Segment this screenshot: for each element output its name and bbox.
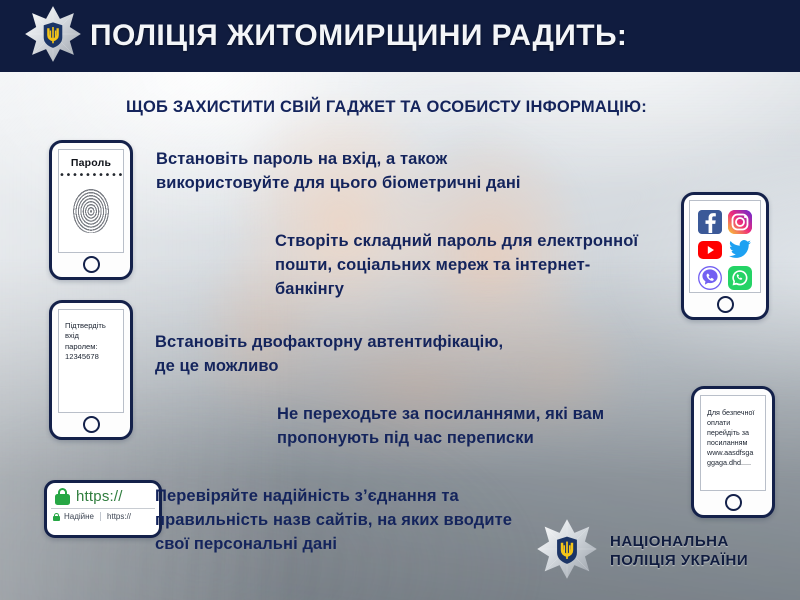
tip-line: свої персональні дані [155,533,512,557]
tip-line: Не переходьте за посиланнями, які вам [277,403,604,427]
subtitle: ЩОБ ЗАХИСТИТИ СВІЙ ГАДЖЕТ ТА ОСОБИСТУ ІН… [126,98,647,117]
home-button-icon [717,296,734,313]
home-button-icon [83,256,100,273]
password-label: Пароль [59,157,123,169]
tip-strong-password: Створіть складний пароль для електронної… [275,230,638,302]
fingerprint-icon [73,188,109,233]
phishing-line: оплати [707,418,760,428]
tip-line: Встановіть пароль на вхід, а також [156,148,521,172]
phone-screen: Пароль •••••••••• [58,149,124,253]
home-button-icon [725,494,742,511]
viber-icon[interactable] [698,266,722,290]
url-text: https:// [107,512,131,521]
tip-line: Створіть складний пароль для електронної [275,230,638,254]
tip-line: пропонують під час переписки [277,427,604,451]
sms-line: паролем: [65,342,118,352]
phone-screen: Підтвердіть вхід паролем: 12345678 [58,309,124,413]
police-star-emblem [24,5,82,68]
tip-line: Перевіряйте надійність з’єднання та [155,485,512,509]
sms-code: 12345678 [65,352,118,362]
phishing-message: Для безпечної оплати перейдіть за посила… [701,396,765,468]
phishing-url-line: ggaga.dhd..... [707,458,760,468]
sms-message: Підтвердіть вхід паролем: 12345678 [59,310,123,362]
footer-organisation-name: НАЦІОНАЛЬНА ПОЛІЦІЯ УКРАЇНИ [610,533,748,571]
tip-line: банкінгу [275,278,638,302]
sms-line: Підтвердіть [65,321,118,331]
phone-sms-mockup: Підтвердіть вхід паролем: 12345678 [49,300,133,440]
tip-line: правильність назв сайтів, на яких вводит… [155,509,512,533]
phishing-line: Для безпечної [707,408,760,418]
home-button-icon [83,416,100,433]
police-star-emblem [536,518,598,585]
phishing-url-line: www.aasdfsga [707,448,760,458]
header-bar: ПОЛІЦІЯ ЖИТОМИРЩИНИ РАДИТЬ: [0,0,800,72]
tip-password-biometrics: Встановіть пароль на вхід, а також викор… [156,148,521,196]
phone-social-mockup [681,192,769,320]
phone-screen [689,200,761,293]
lock-small-icon [53,513,60,521]
https-addressbar-row: Надійне https:// [47,509,159,521]
footer-line: НАЦІОНАЛЬНА [610,533,748,552]
footer-logo: НАЦІОНАЛЬНА ПОЛІЦІЯ УКРАЇНИ [536,518,748,585]
youtube-icon[interactable] [698,238,722,262]
phone-screen: Для безпечної оплати перейдіть за посила… [700,395,766,491]
tip-line: де це можливо [155,355,503,379]
password-dots: •••••••••• [59,170,123,181]
tip-avoid-links: Не переходьте за посиланнями, які вам пр… [277,403,604,451]
phone-phishing-mockup: Для безпечної оплати перейдіть за посила… [691,386,775,518]
tip-verify-connection: Перевіряйте надійність з’єднання та прав… [155,485,512,557]
social-app-grid [690,201,760,293]
phishing-line: перейдіть за [707,428,760,438]
tip-two-factor-auth: Встановіть двофакторну автентифікацію, д… [155,331,503,379]
secure-label: Надійне [64,512,94,521]
tip-line: Встановіть двофакторну автентифікацію, [155,331,503,355]
whatsapp-icon[interactable] [728,266,752,290]
divider [100,512,101,521]
phone-password-mockup: Пароль •••••••••• [49,140,133,280]
lock-icon [55,488,70,505]
tip-line: пошти, соціальних мереж та інтернет- [275,254,638,278]
tip-line: використовуйте для цього біометричні дан… [156,172,521,196]
twitter-icon[interactable] [728,238,752,262]
https-scheme-label: https:// [76,488,123,505]
instagram-icon[interactable] [728,210,752,234]
https-main-row: https:// [47,483,159,508]
sms-line: вхід [65,331,118,341]
page-title: ПОЛІЦІЯ ЖИТОМИРЩИНИ РАДИТЬ: [90,19,627,53]
https-badge: https:// Надійне https:// [44,480,162,538]
facebook-icon[interactable] [698,210,722,234]
footer-line: ПОЛІЦІЯ УКРАЇНИ [610,552,748,571]
infographic-poster: ПОЛІЦІЯ ЖИТОМИРЩИНИ РАДИТЬ: ЩОБ ЗАХИСТИТ… [0,0,800,600]
phishing-line: посиланням [707,438,760,448]
